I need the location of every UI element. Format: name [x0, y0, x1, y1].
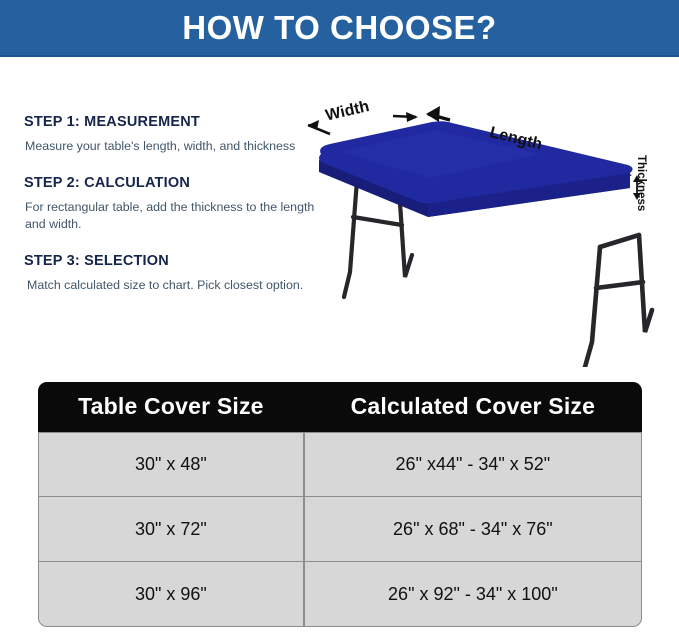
- step-1-body: Measure your table's length, width, and …: [24, 138, 324, 154]
- cell-calculated-cover-size-1: 26" x44" - 34" x 52": [304, 432, 642, 497]
- table-header-row: Table Cover Size Calculated Cover Size: [38, 382, 642, 432]
- step-item-1: STEP 1: MEASUREMENT Measure your table's…: [24, 115, 324, 154]
- table-leg-front: [585, 235, 652, 367]
- cell-calculated-cover-size-2: 26" x 68" - 34" x 76": [304, 497, 642, 562]
- cell-table-cover-size-2: 30" x 72": [38, 497, 304, 562]
- column-header-calculated-cover-size: Calculated Cover Size: [304, 382, 642, 432]
- size-chart-container: Table Cover Size Calculated Cover Size 3…: [38, 382, 642, 627]
- length-arrowhead-left: [426, 106, 440, 122]
- step-2-heading: STEP 2: CALCULATION: [24, 176, 324, 192]
- folding-table-illustration: Width Length Thickness: [300, 92, 679, 367]
- table-row: 30" x 96" 26" x 92" - 34" x 100": [38, 562, 642, 627]
- step-item-2: STEP 2: CALCULATION For rectangular tabl…: [24, 176, 324, 232]
- cell-table-cover-size-3: 30" x 96": [38, 562, 304, 627]
- step-3-heading: STEP 3: SELECTION: [24, 254, 324, 270]
- step-2-body: For rectangular table, add the thickness…: [24, 199, 324, 232]
- size-chart-table: Table Cover Size Calculated Cover Size 3…: [38, 382, 642, 627]
- page-header-banner: HOW TO CHOOSE?: [0, 0, 679, 57]
- step-item-3: STEP 3: SELECTION Match calculated size …: [24, 254, 324, 293]
- step-3-body: Match calculated size to chart. Pick clo…: [24, 277, 324, 293]
- cell-calculated-cover-size-3: 26" x 92" - 34" x 100": [304, 562, 642, 627]
- page-title: HOW TO CHOOSE?: [182, 11, 496, 44]
- dimension-label-thickness: Thickness: [635, 155, 647, 211]
- cell-table-cover-size-1: 30" x 48": [38, 432, 304, 497]
- table-row: 30" x 48" 26" x44" - 34" x 52": [38, 432, 642, 497]
- step-1-heading: STEP 1: MEASUREMENT: [24, 115, 324, 131]
- steps-list: STEP 1: MEASUREMENT Measure your table's…: [24, 115, 324, 293]
- width-arrowhead-right: [406, 112, 418, 122]
- table-row: 30" x 72" 26" x 68" - 34" x 76": [38, 497, 642, 562]
- column-header-table-cover-size: Table Cover Size: [38, 382, 304, 432]
